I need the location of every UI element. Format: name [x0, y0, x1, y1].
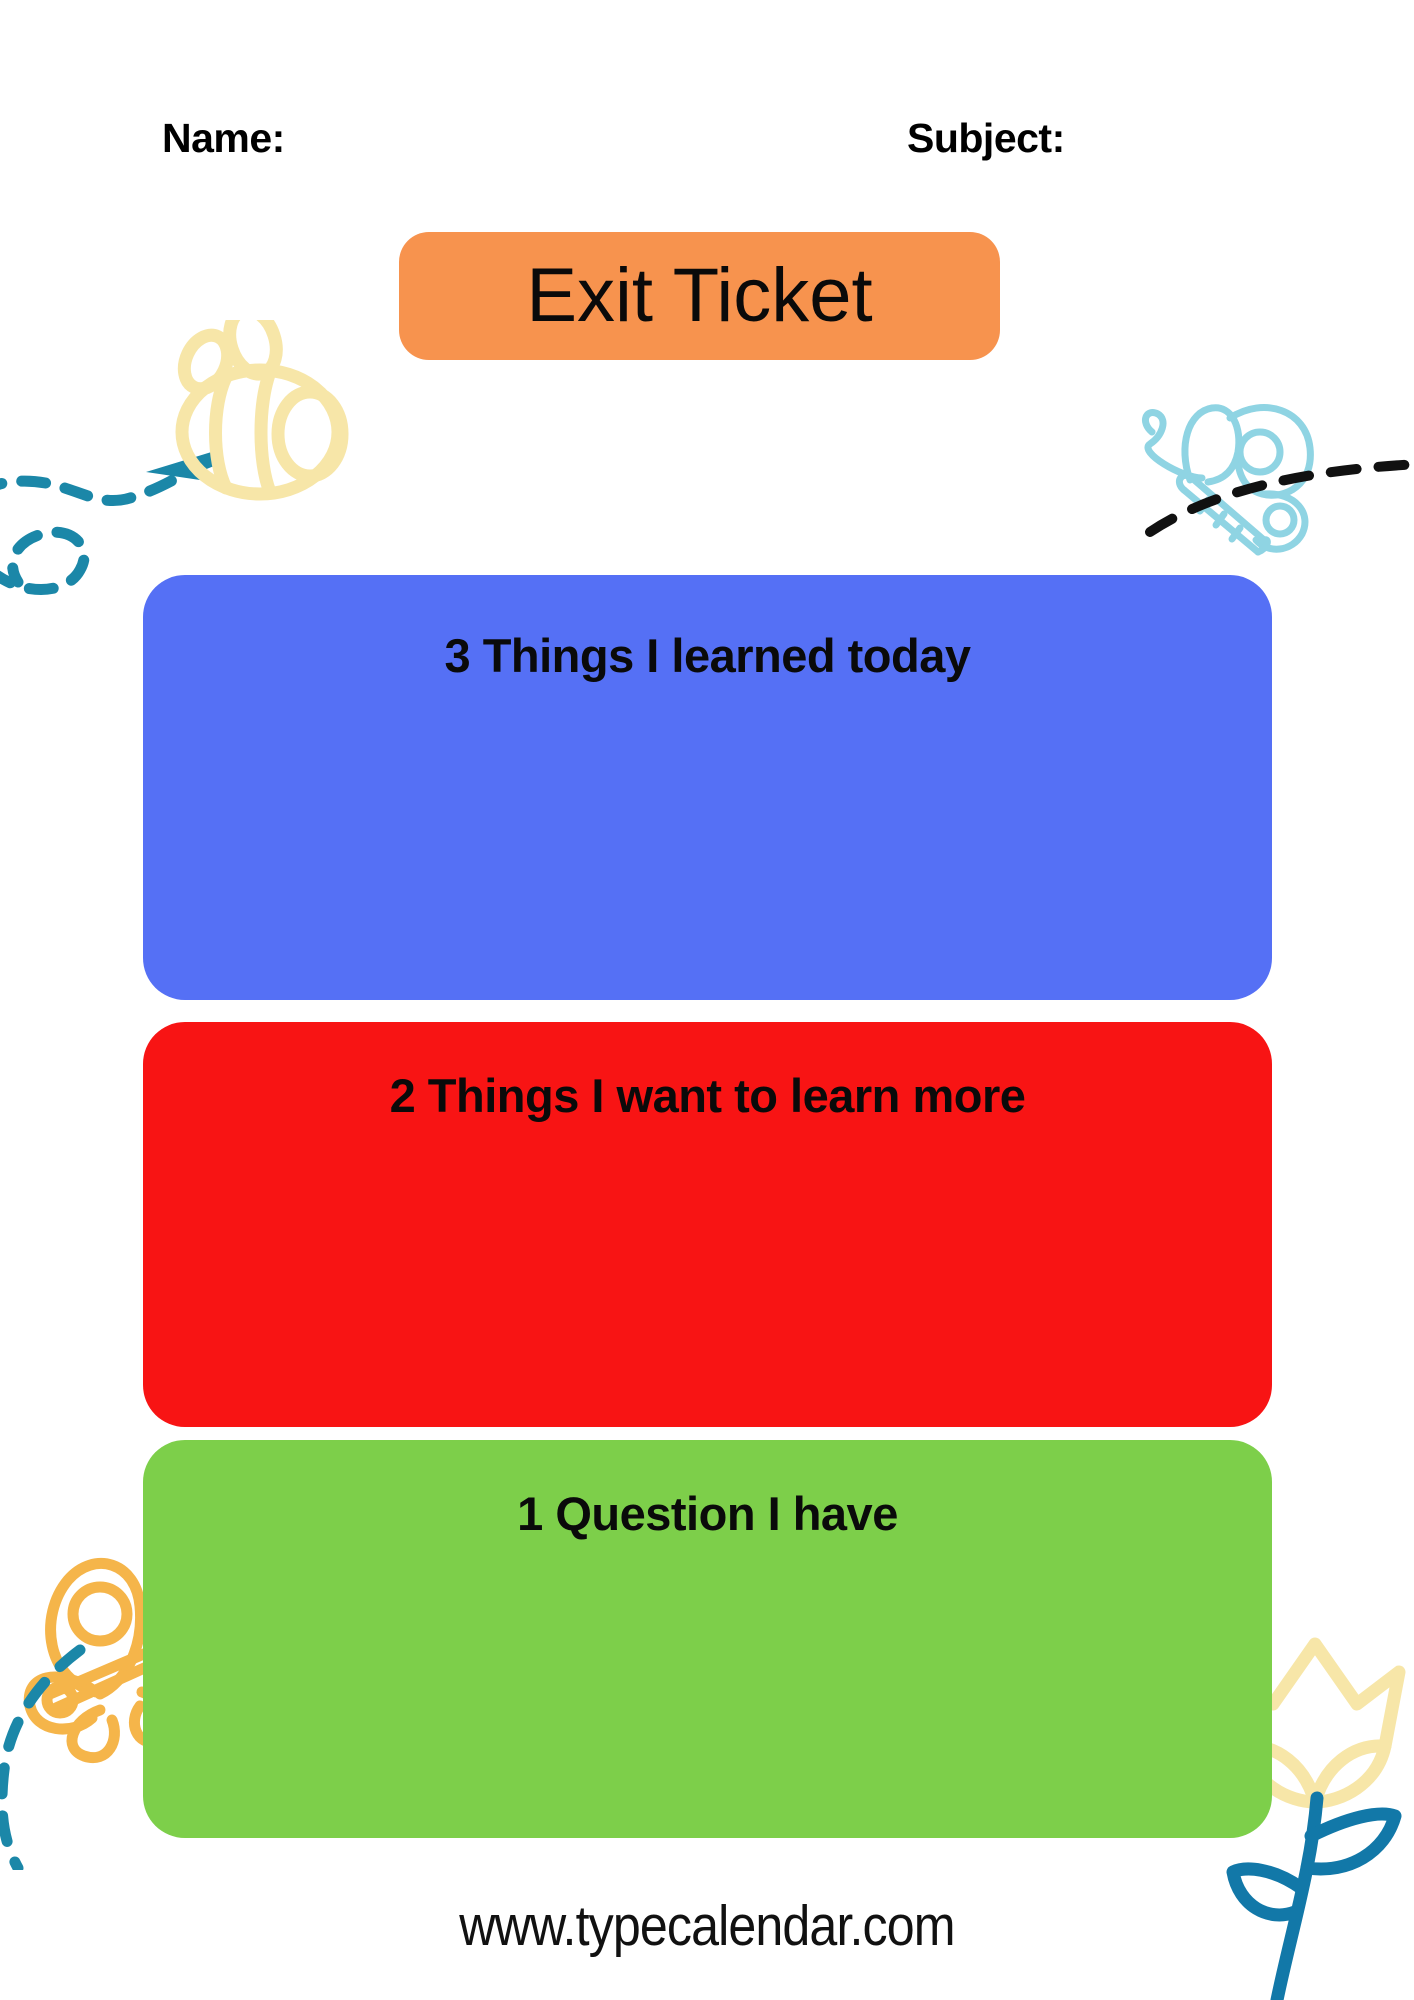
section-box-learn-more[interactable]: 2 Things I want to learn more — [143, 1022, 1272, 1427]
section-heading-learn-more: 2 Things I want to learn more — [143, 1068, 1272, 1123]
section-box-question[interactable]: 1 Question I have — [143, 1440, 1272, 1838]
subject-field-label: Subject: — [907, 115, 1065, 162]
dashed-trail-icon — [1000, 430, 1414, 550]
section-heading-learned: 3 Things I learned today — [143, 628, 1272, 683]
name-field-label: Name: — [162, 115, 285, 162]
section-box-learned[interactable]: 3 Things I learned today — [143, 575, 1272, 1000]
dashed-trail-icon — [0, 1640, 90, 1870]
footer-website-url: www.typecalendar.com — [85, 1893, 1329, 1959]
worksheet-page: Name: Subject: Exit Ticket — [0, 0, 1414, 2000]
butterfly-icon — [1130, 390, 1414, 570]
section-heading-question: 1 Question I have — [143, 1486, 1272, 1541]
bee-icon — [0, 320, 370, 610]
exit-ticket-title-banner: Exit Ticket — [399, 232, 1000, 360]
page-title: Exit Ticket — [526, 258, 872, 334]
